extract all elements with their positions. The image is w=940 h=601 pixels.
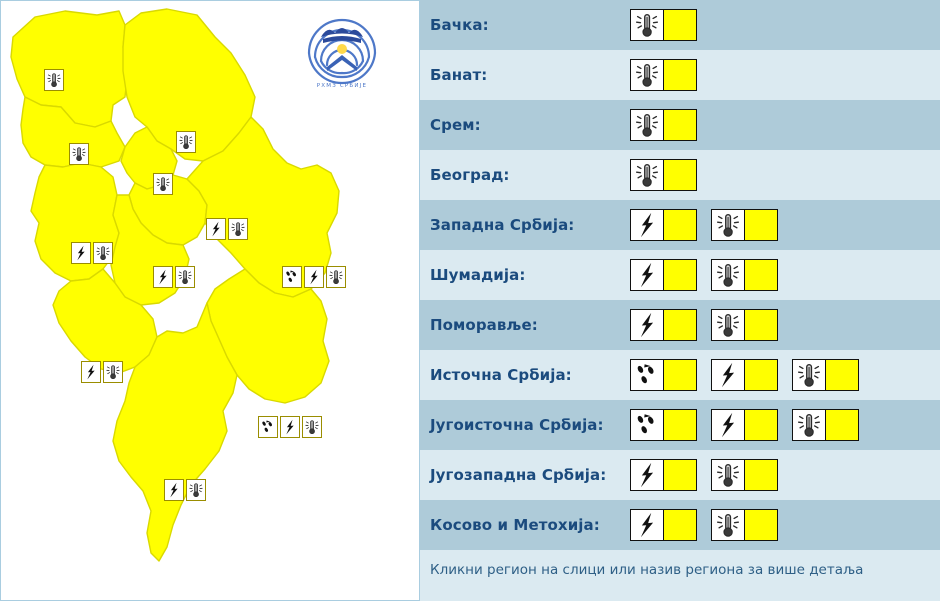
lightning-symbol bbox=[712, 410, 745, 440]
map-cluster[interactable] bbox=[44, 69, 64, 91]
warning-badge[interactable] bbox=[711, 409, 778, 441]
warning-group bbox=[630, 359, 859, 391]
warning-group bbox=[630, 209, 778, 241]
severity-level-swatch bbox=[664, 110, 696, 140]
meteo-alarm-page: РХМЗ СРБИЈЕ bbox=[0, 0, 940, 601]
map-lightning-icon bbox=[164, 479, 184, 501]
region-row[interactable]: Шумадија: bbox=[420, 250, 940, 300]
thermometer-icon bbox=[104, 362, 122, 382]
thermometer-icon bbox=[631, 110, 663, 140]
thermometer-icon bbox=[154, 174, 172, 194]
thermometer-icon bbox=[793, 360, 825, 390]
thermometer-symbol bbox=[631, 160, 664, 190]
lightning-icon bbox=[165, 480, 183, 500]
thermometer-icon bbox=[70, 144, 88, 164]
map-cluster[interactable] bbox=[206, 218, 248, 240]
thermometer-icon bbox=[712, 510, 744, 540]
severity-level-swatch bbox=[664, 10, 696, 40]
region-row[interactable]: Западна Србија: bbox=[420, 200, 940, 250]
thermometer-icon bbox=[327, 267, 345, 287]
region-name-label[interactable]: Шумадија: bbox=[430, 266, 630, 284]
warning-badge[interactable] bbox=[630, 209, 697, 241]
map-rain-icon bbox=[282, 266, 302, 288]
thermometer-symbol bbox=[712, 260, 745, 290]
warning-badge[interactable] bbox=[711, 309, 778, 341]
lightning-icon bbox=[154, 267, 172, 287]
rain-icon bbox=[259, 417, 277, 437]
warning-badge[interactable] bbox=[711, 509, 778, 541]
region-name-label[interactable]: Југозападна Србија: bbox=[430, 466, 630, 484]
map-thermometer-icon bbox=[302, 416, 322, 438]
lightning-icon bbox=[82, 362, 100, 382]
rhmz-logo: РХМЗ СРБИЈЕ bbox=[301, 13, 383, 91]
severity-level-swatch bbox=[745, 460, 777, 490]
region-name-label[interactable]: Западна Србија: bbox=[430, 216, 630, 234]
region-row[interactable]: Југоисточна Србија: bbox=[420, 400, 940, 450]
thermometer-icon bbox=[631, 60, 663, 90]
lightning-icon bbox=[631, 210, 663, 240]
thermometer-icon bbox=[631, 10, 663, 40]
region-row[interactable]: Југозападна Србија: bbox=[420, 450, 940, 500]
warning-group bbox=[630, 259, 778, 291]
map-rain-icon bbox=[258, 416, 278, 438]
map-lightning-icon bbox=[280, 416, 300, 438]
lightning-icon bbox=[207, 219, 225, 239]
rain-icon bbox=[631, 410, 663, 440]
map-thermometer-icon bbox=[103, 361, 123, 383]
warning-badge[interactable] bbox=[630, 59, 697, 91]
region-name-label[interactable]: Поморавље: bbox=[430, 316, 630, 334]
region-name-label[interactable]: Банат: bbox=[430, 66, 630, 84]
map-thermometer-icon bbox=[186, 479, 206, 501]
warning-badge[interactable] bbox=[792, 359, 859, 391]
warning-badge[interactable] bbox=[630, 359, 697, 391]
thermometer-symbol bbox=[712, 310, 745, 340]
warning-badge[interactable] bbox=[630, 459, 697, 491]
severity-level-swatch bbox=[745, 360, 777, 390]
warning-group bbox=[630, 9, 697, 41]
lightning-icon bbox=[631, 460, 663, 490]
severity-level-swatch bbox=[664, 160, 696, 190]
region-row[interactable]: Бачка: bbox=[420, 0, 940, 50]
thermometer-symbol bbox=[631, 110, 664, 140]
severity-level-swatch bbox=[664, 310, 696, 340]
severity-level-swatch bbox=[664, 460, 696, 490]
thermometer-symbol bbox=[793, 360, 826, 390]
warning-group bbox=[630, 109, 697, 141]
thermometer-icon bbox=[712, 310, 744, 340]
thermometer-icon bbox=[94, 243, 112, 263]
region-row[interactable]: Поморавље: bbox=[420, 300, 940, 350]
region-name-label[interactable]: Београд: bbox=[430, 166, 630, 184]
severity-level-swatch bbox=[664, 510, 696, 540]
region-name-label[interactable]: Косово и Метохија: bbox=[430, 516, 630, 534]
lightning-icon bbox=[631, 310, 663, 340]
thermometer-icon bbox=[176, 267, 194, 287]
map-cluster[interactable] bbox=[153, 173, 173, 195]
map-thermometer-icon bbox=[228, 218, 248, 240]
severity-level-swatch bbox=[745, 210, 777, 240]
warning-badge[interactable] bbox=[711, 259, 778, 291]
thermometer-icon bbox=[712, 210, 744, 240]
warning-badge[interactable] bbox=[630, 109, 697, 141]
thermometer-icon bbox=[712, 460, 744, 490]
lightning-icon bbox=[712, 360, 744, 390]
footer-hint: Кликни регион на слици или назив региона… bbox=[420, 550, 940, 601]
thermometer-icon bbox=[712, 260, 744, 290]
lightning-icon bbox=[712, 410, 744, 440]
warning-group bbox=[630, 459, 778, 491]
lightning-symbol bbox=[631, 460, 664, 490]
map-thermometer-icon bbox=[326, 266, 346, 288]
map-thermometer-icon bbox=[153, 173, 173, 195]
map-cluster[interactable] bbox=[282, 266, 346, 288]
thermometer-symbol bbox=[712, 210, 745, 240]
region-row[interactable]: Банат: bbox=[420, 50, 940, 100]
warning-badge[interactable] bbox=[630, 159, 697, 191]
lightning-symbol bbox=[631, 510, 664, 540]
severity-level-swatch bbox=[664, 360, 696, 390]
warning-badge[interactable] bbox=[630, 259, 697, 291]
region-name-label[interactable]: Источна Србија: bbox=[430, 366, 630, 384]
map-panel: РХМЗ СРБИЈЕ bbox=[0, 0, 420, 601]
lightning-symbol bbox=[631, 260, 664, 290]
rain-symbol bbox=[631, 410, 664, 440]
lightning-symbol bbox=[712, 360, 745, 390]
thermometer-icon bbox=[187, 480, 205, 500]
severity-level-swatch bbox=[745, 260, 777, 290]
warning-badge[interactable] bbox=[630, 509, 697, 541]
warning-badge[interactable] bbox=[792, 409, 859, 441]
map-cluster[interactable] bbox=[164, 479, 206, 501]
rain-symbol bbox=[631, 360, 664, 390]
rain-icon bbox=[631, 360, 663, 390]
severity-level-swatch bbox=[664, 60, 696, 90]
region-row[interactable]: Косово и Метохија: bbox=[420, 500, 940, 550]
warning-badge[interactable] bbox=[711, 459, 778, 491]
map-cluster[interactable] bbox=[153, 266, 195, 288]
map-lightning-icon bbox=[71, 242, 91, 264]
lightning-icon bbox=[305, 267, 323, 287]
warning-badge[interactable] bbox=[711, 209, 778, 241]
lightning-icon bbox=[631, 510, 663, 540]
lightning-symbol bbox=[631, 210, 664, 240]
warning-group bbox=[630, 309, 778, 341]
warning-group bbox=[630, 59, 697, 91]
svg-text:РХМЗ СРБИЈЕ: РХМЗ СРБИЈЕ bbox=[317, 83, 367, 89]
map-cluster[interactable] bbox=[69, 143, 89, 165]
warning-badge[interactable] bbox=[630, 9, 697, 41]
footer-hint-text: Кликни регион на слици или назив региона… bbox=[430, 562, 863, 578]
severity-level-swatch bbox=[745, 410, 777, 440]
severity-level-swatch bbox=[826, 360, 858, 390]
region-name-label[interactable]: Југоисточна Србија: bbox=[430, 416, 630, 434]
warning-group bbox=[630, 509, 778, 541]
region-name-label[interactable]: Бачка: bbox=[430, 16, 630, 34]
thermometer-symbol bbox=[793, 410, 826, 440]
severity-level-swatch bbox=[664, 410, 696, 440]
region-row[interactable]: Београд: bbox=[420, 150, 940, 200]
region-row[interactable]: Источна Србија: bbox=[420, 350, 940, 400]
warning-badge[interactable] bbox=[630, 309, 697, 341]
severity-level-swatch bbox=[745, 510, 777, 540]
map-cluster[interactable] bbox=[176, 131, 196, 153]
map-thermometer-icon bbox=[93, 242, 113, 264]
severity-level-swatch bbox=[664, 260, 696, 290]
lightning-icon bbox=[631, 260, 663, 290]
thermometer-symbol bbox=[712, 460, 745, 490]
lightning-icon bbox=[72, 243, 90, 263]
region-row[interactable]: Срем: bbox=[420, 100, 940, 150]
map-thermometer-icon bbox=[176, 131, 196, 153]
lightning-symbol bbox=[631, 310, 664, 340]
warning-badge[interactable] bbox=[630, 409, 697, 441]
map-lightning-icon bbox=[81, 361, 101, 383]
map-cluster[interactable] bbox=[258, 416, 322, 438]
map-thermometer-icon bbox=[175, 266, 195, 288]
thermometer-symbol bbox=[631, 10, 664, 40]
thermometer-icon bbox=[229, 219, 247, 239]
rain-icon bbox=[283, 267, 301, 287]
region-name-label[interactable]: Срем: bbox=[430, 116, 630, 134]
map-lightning-icon bbox=[304, 266, 324, 288]
region-list-panel: Бачка: Банат: Срем: Београд: bbox=[420, 0, 940, 601]
warning-badge[interactable] bbox=[711, 359, 778, 391]
severity-level-swatch bbox=[664, 210, 696, 240]
map-cluster[interactable] bbox=[71, 242, 113, 264]
thermometer-icon bbox=[177, 132, 195, 152]
thermometer-icon bbox=[631, 160, 663, 190]
severity-level-swatch bbox=[745, 310, 777, 340]
warning-group bbox=[630, 409, 859, 441]
thermometer-icon bbox=[45, 70, 63, 90]
map-lightning-icon bbox=[206, 218, 226, 240]
map-thermometer-icon bbox=[69, 143, 89, 165]
lightning-icon bbox=[281, 417, 299, 437]
map-thermometer-icon bbox=[44, 69, 64, 91]
thermometer-icon bbox=[793, 410, 825, 440]
region-rows: Бачка: Банат: Срем: Београд: bbox=[420, 0, 940, 550]
severity-level-swatch bbox=[826, 410, 858, 440]
thermometer-icon bbox=[303, 417, 321, 437]
map-lightning-icon bbox=[153, 266, 173, 288]
map-cluster[interactable] bbox=[81, 361, 123, 383]
thermometer-symbol bbox=[631, 60, 664, 90]
warning-group bbox=[630, 159, 697, 191]
thermometer-symbol bbox=[712, 510, 745, 540]
